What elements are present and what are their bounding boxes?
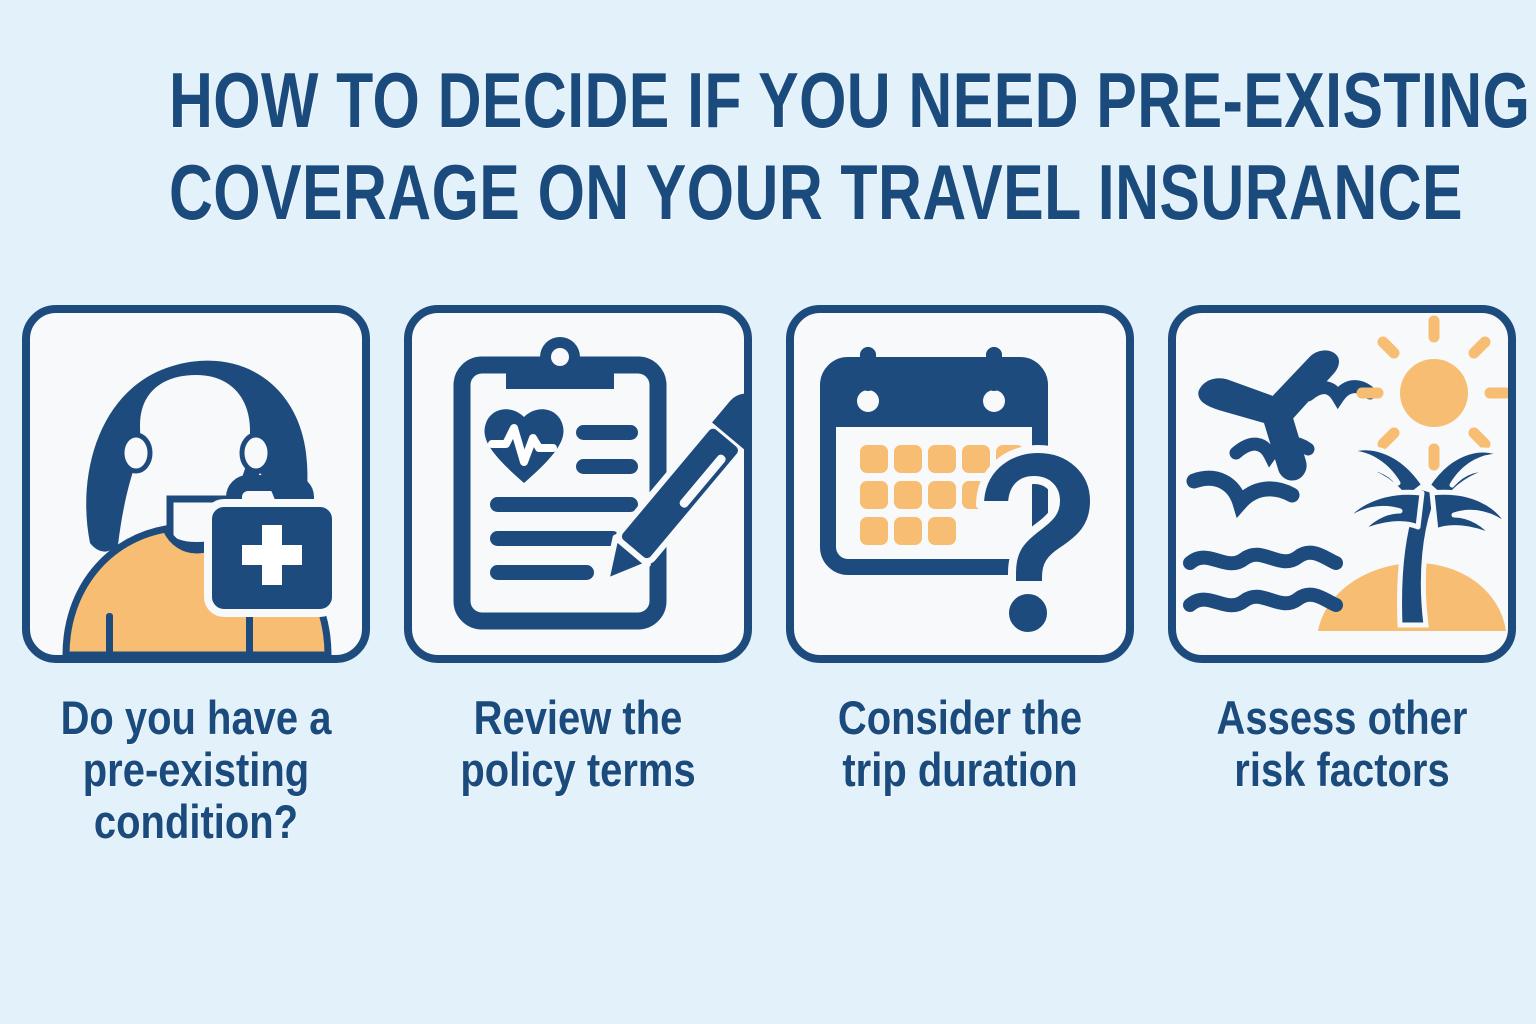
caption-line: Consider the xyxy=(812,692,1108,744)
caption-pre-existing-condition: Do you have a pre-existing condition? xyxy=(48,692,344,848)
card-consider-trip-duration[interactable] xyxy=(786,305,1134,663)
card-assess-risk-factors[interactable] xyxy=(1168,305,1516,663)
caption-line: trip duration xyxy=(812,744,1108,796)
caption-consider-trip-duration: Consider the trip duration xyxy=(812,692,1108,848)
caption-line: policy terms xyxy=(430,744,726,796)
captions-row: Do you have a pre-existing condition? Re… xyxy=(22,692,1516,848)
caption-review-policy-terms: Review the policy terms xyxy=(430,692,726,848)
page-title-line-1: HOW TO DECIDE IF YOU NEED PRE-EXISTING xyxy=(169,54,1367,146)
caption-line: pre-existing xyxy=(48,744,344,796)
icon-cards-row xyxy=(22,305,1516,663)
page-title: HOW TO DECIDE IF YOU NEED PRE-EXISTING C… xyxy=(0,54,1536,238)
caption-line: condition? xyxy=(48,796,344,848)
woman-with-medical-kit-icon xyxy=(30,313,362,655)
card-review-policy-terms[interactable] xyxy=(404,305,752,663)
caption-line: Assess other xyxy=(1194,692,1490,744)
clipboard-with-pen-icon xyxy=(412,313,744,655)
calendar-with-question-mark-icon xyxy=(794,313,1126,655)
beach-travel-scene-icon xyxy=(1176,313,1508,655)
caption-line: Do you have a xyxy=(48,692,344,744)
caption-line: Review the xyxy=(430,692,726,744)
caption-line: risk factors xyxy=(1194,744,1490,796)
page-title-line-2: COVERAGE ON YOUR TRAVEL INSURANCE xyxy=(169,146,1367,238)
caption-assess-risk-factors: Assess other risk factors xyxy=(1194,692,1490,848)
card-pre-existing-condition[interactable] xyxy=(22,305,370,663)
